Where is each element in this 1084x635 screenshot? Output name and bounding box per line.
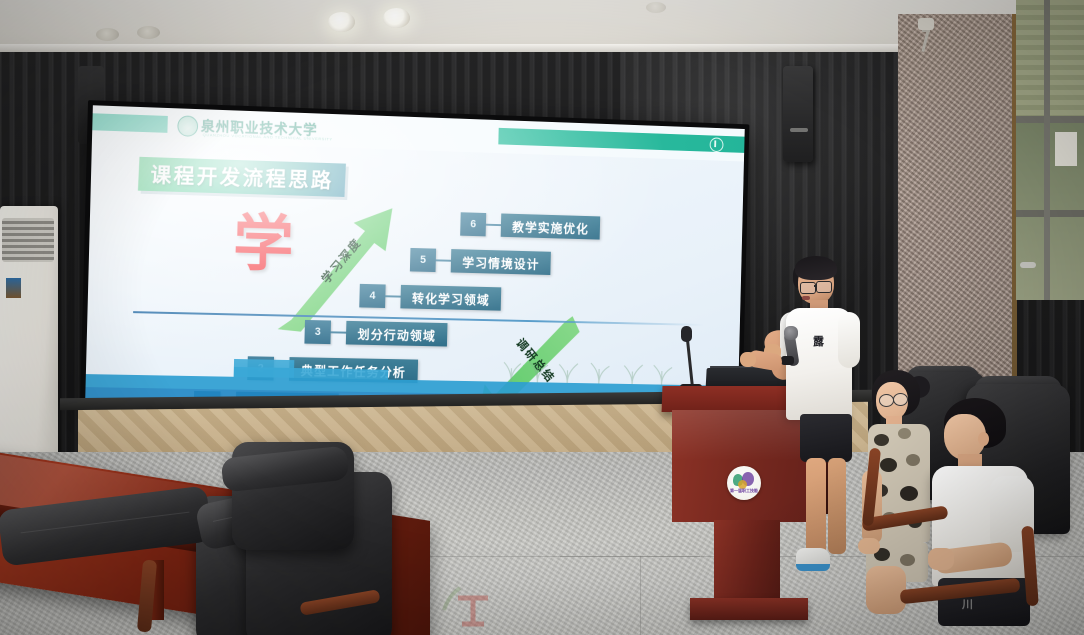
wall-speaker [783, 66, 813, 162]
step-label: 划分行动领域 [346, 321, 448, 347]
ac-grille [2, 218, 54, 262]
step-number: 5 [410, 248, 436, 272]
window-mullion [1044, 0, 1050, 300]
step-connector [436, 259, 451, 261]
dress-pattern-dot [900, 554, 915, 566]
audience-hand [928, 548, 954, 570]
security-camera-icon [918, 18, 934, 30]
podium-column [714, 520, 780, 602]
podium-base [690, 598, 808, 620]
microphone-head-icon [784, 326, 798, 340]
ac-label [6, 278, 21, 298]
dress-pattern-dot [906, 454, 920, 466]
presenter-hair [795, 256, 837, 280]
grass-decoration [502, 356, 679, 384]
step-row: 4 转化学习领域 [359, 284, 501, 311]
emblem-label: 第一届职工技能 [729, 488, 759, 494]
window-frame [1016, 210, 1084, 217]
speaker-vent [790, 128, 808, 132]
presenter-mouth [802, 296, 810, 300]
microphone-head-icon [681, 326, 692, 342]
window-blind [1016, 0, 1084, 118]
slide-title: 课程开发流程思路 [150, 159, 334, 194]
audience-glasses [879, 394, 894, 407]
window-notice [1055, 132, 1077, 166]
step-label: 学习情境设计 [451, 249, 551, 275]
dress-pattern-dot [900, 486, 918, 501]
projection-screen: 泉州职业技术大学 QUANZHOU VOCATIONAL AND TECHNIC… [80, 100, 749, 420]
shoe-sole [796, 564, 830, 571]
dress-pattern-dot [874, 434, 889, 446]
granite-column [898, 14, 1016, 414]
step-number: 4 [359, 284, 385, 308]
photo-scene: 泉州职业技术大学 QUANZHOU VOCATIONAL AND TECHNIC… [0, 0, 1084, 635]
tshirt-graphic: 露 [812, 336, 825, 349]
slide-title-plate: 课程开发流程思路 [138, 157, 346, 197]
wristwatch-icon [781, 356, 794, 365]
header-band-left [92, 113, 168, 133]
presenter-sleeve [838, 312, 860, 368]
step-number: 3 [304, 320, 331, 344]
downlight-icon [383, 8, 410, 28]
shorts-graphic: 川 [962, 596, 973, 612]
downlight-icon [137, 26, 160, 39]
floor-seam [640, 556, 641, 635]
downlight-icon [328, 12, 355, 32]
presenter-glasses [816, 281, 832, 293]
step-label: 转化学习领域 [400, 285, 501, 311]
window-frame [1016, 116, 1084, 123]
info-circle-stem [714, 140, 716, 147]
step-row: 3 划分行动领域 [304, 320, 447, 347]
step-connector [331, 331, 346, 333]
floor-stain [440, 584, 476, 614]
dress-pattern-dot [898, 428, 911, 439]
step-connector [385, 295, 400, 297]
step-connector [486, 224, 501, 226]
step-label: 教学实施优化 [501, 213, 601, 239]
step-row: 6 教学实施优化 [460, 212, 600, 239]
audience-ear [978, 432, 989, 446]
dress-pattern-dot [880, 458, 897, 472]
footer-step-shape [234, 359, 295, 378]
presenter-glasses [800, 282, 816, 294]
presenter-leg [806, 458, 826, 556]
audience-glasses [893, 393, 908, 406]
step-number: 6 [460, 212, 486, 236]
presenter-leg [828, 458, 846, 554]
slide-canvas: 泉州职业技术大学 QUANZHOU VOCATIONAL AND TECHNIC… [85, 105, 745, 415]
glasses-bridge [814, 285, 817, 287]
downlight-icon [646, 2, 666, 13]
audience-knee [866, 566, 906, 614]
downlight-icon [96, 28, 119, 41]
presenter-right-hand [740, 352, 756, 367]
step-row: 5 学习情境设计 [410, 248, 551, 275]
audience-hand [858, 538, 880, 554]
door-handle [1020, 262, 1036, 268]
presenter-shorts [800, 414, 852, 462]
